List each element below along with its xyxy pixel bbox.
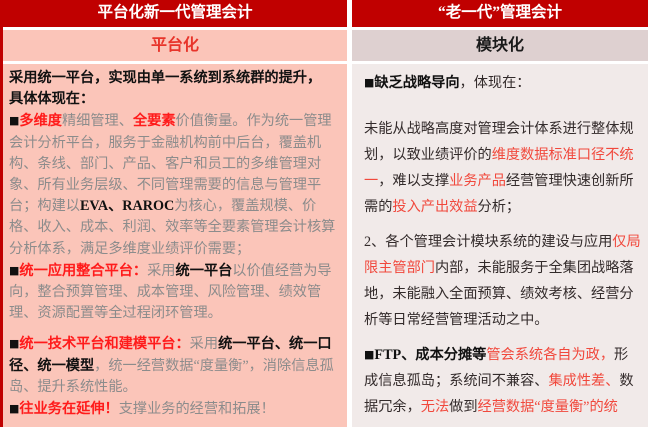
left-column-title: 平台化新一代管理会计 — [0, 0, 347, 27]
left-column-body: 采用统一平台，实现由单一系统到系统群的提升， 具体体现在： ■多维度精细管理、全… — [0, 64, 347, 427]
right-column-body: ■缺乏战略导向，体现在： 未能从战略高度对管理会计体系进行整体规划，以致业绩评价… — [352, 64, 648, 427]
left-b2-run-1: 采用 — [147, 263, 175, 279]
left-b4-run-0: 往业务在延伸！ — [19, 401, 118, 417]
right-b1-run-1: ，体现在： — [460, 75, 531, 91]
right-b1-run-0: 缺乏战略导向 — [374, 75, 459, 91]
left-column: 平台化新一代管理会计 平台化 采用统一平台，实现由单一系统到系统群的提升， 具体… — [0, 0, 347, 427]
left-bullet-1: ■多维度精细管理、全要素价值衡量。作为统一管理会计分析平台，服务于金融机构前中后… — [9, 110, 343, 259]
right-p1-run-2: ，难以支撑 — [378, 173, 449, 189]
left-b1-run-0: 多维度 — [19, 113, 62, 129]
left-b1-run-4: EVA、RAROC — [80, 198, 174, 214]
bullet-square-icon: ■ — [364, 348, 374, 361]
bullet-square-icon: ■ — [9, 114, 19, 127]
bullet-square-icon: ■ — [364, 76, 374, 89]
right-bullet-2: ■FTP、成本分摊等管会系统各自为政，形成信息孤岛；系统间不兼容、集成性差、数据… — [364, 342, 642, 427]
left-b2-run-0: 统一应用整合平台： — [19, 263, 147, 279]
right-paragraph-1: 未能从战略高度对管理会计体系进行整体规划，以致业绩评价的维度数据标准口径不统一，… — [364, 116, 642, 220]
left-b1-run-1: 精细管理、 — [62, 113, 133, 129]
left-intro-line2: 具体体现在： — [9, 91, 94, 107]
left-b3-run-0: 统一技术平台和建模平台： — [19, 336, 189, 352]
right-b2-run-5: 无法 — [421, 399, 449, 415]
left-b2-run-2: 统一平台 — [176, 263, 233, 279]
right-p1-run-3: 业务产品 — [449, 173, 506, 189]
left-b3-run-1: 采用 — [190, 336, 218, 352]
right-column-title: “老一代”管理会计 — [352, 0, 648, 27]
right-p1-run-5: 投入产出效益 — [392, 199, 477, 215]
left-intro-line1: 采用统一平台，实现由单一系统到系统群的提升， — [9, 70, 321, 86]
left-column-subtitle: 平台化 — [0, 30, 347, 61]
left-bullet-2: ■统一应用整合平台：采用统一平台以价值经营为导向，整合预算管理、成本管理、风险管… — [9, 260, 343, 325]
right-b2-run-3: 集成性差、 — [548, 373, 619, 389]
right-b2-run-0: FTP、成本分摊等 — [374, 347, 486, 363]
right-bullet-1: ■缺乏战略导向，体现在： — [364, 70, 642, 96]
right-column-subtitle: 模块化 — [352, 30, 648, 61]
right-b2-run-6: 做到 — [449, 399, 477, 415]
right-body-spacer-1 — [364, 96, 642, 116]
right-b2-run-1: 管会系统各自为政， — [486, 347, 614, 363]
left-bullet-4: ■往业务在延伸！支撑业务的经营和拓展！ — [9, 398, 343, 420]
bullet-square-icon: ■ — [9, 402, 19, 415]
left-bullet-3: ■统一技术平台和建模平台：采用统一平台、统一口径、统一模型，统一经营数据“度量衡… — [9, 333, 343, 398]
comparison-slide: 平台化新一代管理会计 平台化 采用统一平台，实现由单一系统到系统群的提升， 具体… — [0, 0, 648, 427]
bullet-square-icon: ■ — [9, 337, 19, 350]
bullet-square-icon: ■ — [9, 264, 19, 277]
left-body-spacer-1 — [9, 324, 343, 333]
left-b4-run-1: 支撑业务的经营和拓展！ — [119, 401, 275, 417]
right-paragraph-2: 2、各个管理会计模块系统的建设与应用仅局限主管部门内部，未能服务于全集团战略落地… — [364, 229, 642, 333]
right-p1-run-6: 分析； — [478, 199, 521, 215]
left-intro: 采用统一平台，实现由单一系统到系统群的提升， 具体体现在： — [9, 68, 343, 110]
right-p2-run-0: 2、各个管理会计模块系统的建设与应用 — [364, 234, 612, 250]
left-b1-run-2: 全要素 — [133, 113, 176, 129]
right-column: “老一代”管理会计 模块化 ■缺乏战略导向，体现在： 未能从战略高度对管理会计体… — [352, 0, 648, 427]
right-body-spacer-3 — [364, 333, 642, 342]
right-body-spacer-2 — [364, 220, 642, 229]
